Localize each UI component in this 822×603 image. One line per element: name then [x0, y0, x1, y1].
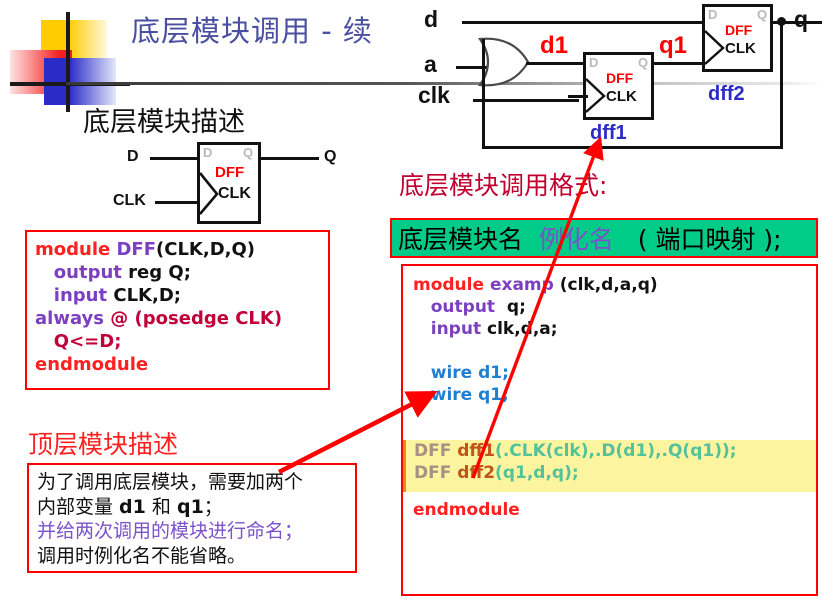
symbol-type-label: DFF	[215, 164, 244, 181]
bottom-module-heading: 底层模块描述	[83, 100, 245, 139]
code-line: endmodule	[413, 499, 816, 521]
dff1-pin-q-label: Q	[638, 55, 648, 70]
symbol-pin-clk-label: CLK	[218, 185, 251, 203]
dff2-instance-label: dff2	[708, 83, 745, 106]
symbol-wire-d	[150, 157, 198, 160]
symbol-pin-q-label: Q	[243, 145, 253, 160]
dff1-type-label: DFF	[606, 70, 633, 86]
symbol-input-clk-label: CLK	[113, 192, 146, 210]
dff2-type-label: DFF	[725, 22, 752, 38]
top-module-code-block: module examp (clk,d,a,q) output q; input…	[401, 264, 818, 596]
dff2-pin-clk-label: CLK	[725, 40, 756, 57]
note-line: 内部变量 d1 和 q1；	[37, 495, 355, 520]
dff1-pin-clk-label: CLK	[606, 88, 637, 105]
dff1-d-input-wire	[568, 62, 586, 65]
circuit-output-q-label: q	[794, 6, 808, 33]
note-line: 并给两次调用的模块进行命名；	[37, 519, 355, 544]
symbol-wire-clk	[155, 201, 199, 204]
or-gate-input-bus	[482, 39, 485, 149]
instantiation-format-heading: 底层模块调用格式:	[399, 166, 607, 202]
dff1-clk-input-wire	[568, 95, 588, 98]
banner-text: 底层模块名 例化名 ( 端口映射 );	[398, 220, 782, 256]
net-label-d1: d1	[540, 32, 568, 60]
top-module-heading: 顶层模块描述	[28, 425, 178, 461]
code-line: DFF dff1(.CLK(clk),.D(d1),.Q(q1));	[406, 440, 816, 462]
code-line: endmodule	[35, 353, 328, 376]
dff-symbol-diagram: D CLK D Q DFF CLK Q	[110, 140, 350, 232]
code-line	[413, 340, 816, 362]
code-line: output q;	[413, 296, 816, 318]
symbol-output-q-label: Q	[324, 148, 336, 166]
dff1-instance-label: dff1	[590, 122, 627, 145]
bottom-module-code-block: module DFF(CLK,D,Q) output reg Q; input …	[25, 230, 330, 390]
top-module-note-box: 为了调用底层模块，需要加两个 内部变量 d1 和 q1； 并给两次调用的模块进行…	[27, 463, 357, 573]
wire-a	[456, 66, 506, 69]
instantiation-highlight-band: DFF dff1(.CLK(clk),.D(d1),.Q(q1)); DFF d…	[403, 440, 816, 492]
feedback-wire-horizontal-bottom	[482, 146, 783, 149]
code-line: Q<=D;	[35, 330, 328, 353]
circuit-input-a-label: a	[424, 51, 437, 78]
circuit-input-d-label: d	[424, 6, 438, 33]
dff1-pin-d-label: D	[589, 55, 598, 70]
dff1-q-output-wire	[652, 62, 704, 65]
symbol-input-d-label: D	[127, 148, 139, 166]
code-line: module DFF(CLK,D,Q)	[35, 238, 328, 261]
wire-clk	[473, 99, 579, 102]
code-line: wire q1;	[413, 384, 816, 406]
net-label-q1: q1	[659, 32, 687, 60]
instantiation-format-banner: 底层模块名 例化名 ( 端口映射 );	[390, 218, 818, 258]
circuit-input-clk-label: clk	[418, 82, 450, 109]
logo-vertical-bar	[66, 12, 70, 112]
dff2-pin-d-label: D	[708, 7, 717, 22]
wire-d	[462, 21, 716, 24]
note-line: 调用时例化名不能省略。	[37, 544, 355, 569]
page-title: 底层模块调用 - 续	[131, 8, 373, 50]
dff2-pin-q-label: Q	[757, 7, 767, 22]
code-line: input CLK,D;	[35, 284, 328, 307]
top-module-circuit-diagram: d a clk d1 D Q DFF CLK dff1 q1 D Q DFF C…	[418, 0, 822, 160]
code-line: DFF dff2(q1,d,q);	[406, 462, 816, 484]
code-line: module examp (clk,d,a,q)	[413, 274, 816, 296]
code-line: wire d1;	[413, 362, 816, 384]
code-line: always @ (posedge CLK)	[35, 307, 328, 330]
code-line: output reg Q;	[35, 261, 328, 284]
arrow-note-to-wire-decl	[279, 400, 420, 472]
symbol-wire-q	[260, 157, 319, 160]
symbol-pin-d-label: D	[203, 145, 212, 160]
note-line: 为了调用底层模块，需要加两个	[37, 470, 355, 495]
feedback-wire-vertical-right	[780, 21, 783, 149]
code-line: input clk,d,a;	[413, 318, 816, 340]
